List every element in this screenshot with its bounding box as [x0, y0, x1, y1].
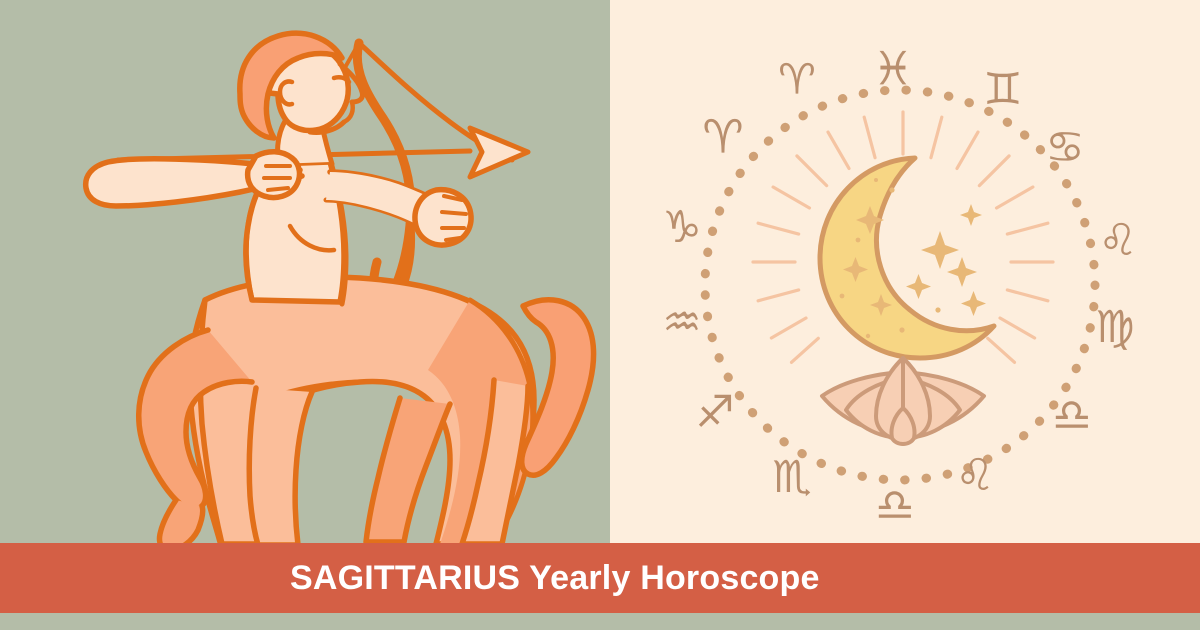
glyph-pisces: ♓ [872, 42, 913, 96]
glyph-leo: ♌ [1098, 215, 1137, 266]
banner-title-zodiac: SAGITTARIUS [290, 559, 520, 597]
banner-title: SAGITTARIUS Yearly Horoscope [290, 561, 820, 595]
crescent-moon-icon [820, 158, 994, 358]
glyph-leo: ♌ [955, 450, 994, 501]
sagittarius-centaur-illustration [0, 0, 610, 560]
glyph-aquarius: ♒ [662, 297, 701, 348]
glyph-libra: ♎ [875, 480, 914, 531]
zodiac-glyph-group: ♈ ♈ ♓ ♊ ♋ ♌ ♍ ♎ ♌ ♎ ♏ ♐ ♒ ♑ [662, 42, 1137, 532]
banner-title-suffix: Yearly Horoscope [520, 559, 819, 597]
glyph-gemini: ♊ [983, 64, 1022, 115]
poster-canvas: ♈ ♈ ♓ ♊ ♋ ♌ ♍ ♎ ♌ ♎ ♏ ♐ ♒ ♑ SAGITTARIUS … [0, 0, 1200, 630]
glyph-scorpio: ♏ [772, 452, 811, 503]
zodiac-wheel-illustration: ♈ ♈ ♓ ♊ ♋ ♌ ♍ ♎ ♌ ♎ ♏ ♐ ♒ ♑ [610, 0, 1200, 545]
title-banner: SAGITTARIUS Yearly Horoscope [0, 543, 1200, 613]
glyph-aries: ♈ [702, 110, 743, 164]
bottom-strip [0, 613, 1200, 630]
glyph-capricorn: ♑ [662, 202, 701, 253]
glyph-cancer: ♋ [1045, 122, 1084, 173]
glyph-libra: ♎ [1052, 390, 1091, 441]
glyph-sagittarius: ♐ [695, 387, 734, 438]
sparkle-stars-icon [906, 204, 986, 316]
glyph-aries: ♈ [778, 55, 816, 104]
lotus-flower-icon [822, 358, 984, 444]
glyph-virgo: ♍ [1095, 302, 1134, 353]
